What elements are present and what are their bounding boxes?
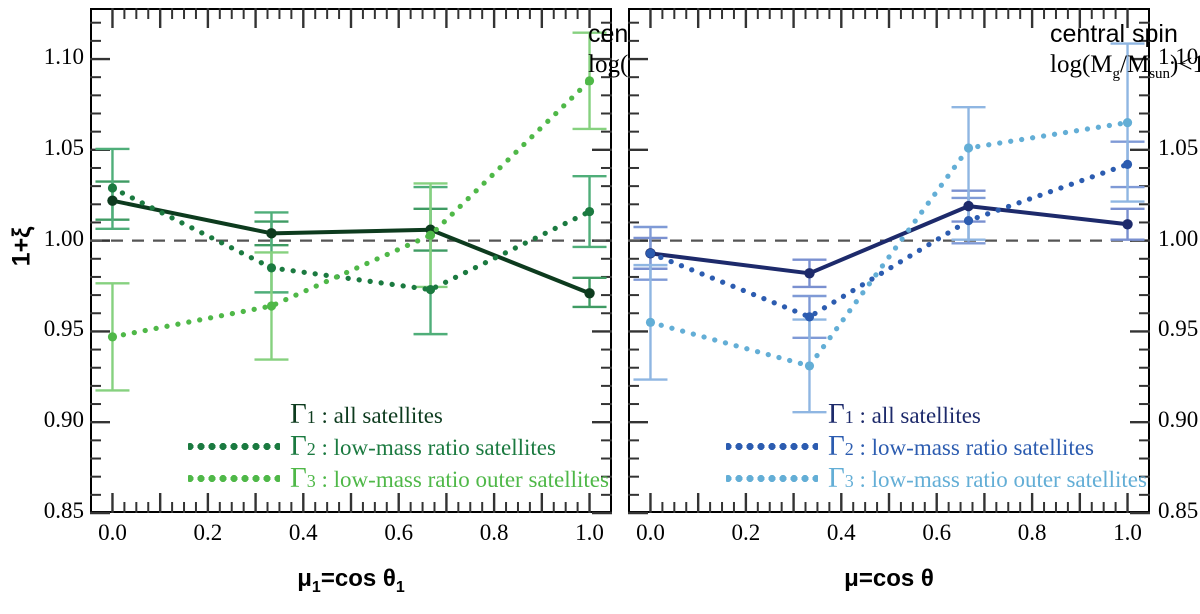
data-point <box>964 216 973 225</box>
data-line <box>650 123 1127 366</box>
x-tick-label: 0.2 <box>178 520 238 546</box>
legend-entry: Γ2 : low-mass ratio satellites <box>188 430 609 462</box>
y-tick-label: 1.00 <box>1158 226 1200 252</box>
data-point <box>426 231 435 240</box>
legend-label: Γ3 : low-mass ratio outer satellites <box>290 462 609 495</box>
errorbar-group <box>633 44 1144 413</box>
figure-root: 1+ξ 1.101.051.000.950.900.85 0.00.20.40.… <box>0 0 1200 614</box>
legend-dotted-line-icon <box>188 473 280 484</box>
annotation-log-post: )<10 <box>1170 51 1200 78</box>
y-tick-label: 0.85 <box>1158 498 1200 524</box>
data-point <box>646 318 655 327</box>
legend-entry: Γ3 : low-mass ratio outer satellites <box>188 462 609 494</box>
data-point <box>804 268 814 278</box>
y-tick-label: 0.85 <box>0 498 84 524</box>
legend-entry: Γ2 : low-mass ratio satellites <box>726 430 1147 462</box>
x-tick-label: 1.0 <box>1098 520 1158 546</box>
y-tick-label: 1.10 <box>0 44 84 70</box>
annotation-log-mid: /M <box>1120 51 1149 78</box>
data-line <box>112 188 589 290</box>
x-axis-title-right: μ=cos θ <box>769 565 1009 597</box>
data-point <box>1123 118 1132 127</box>
xlabel-mu: μ <box>844 565 859 592</box>
data-point <box>426 285 435 294</box>
xlabel-mu: μ <box>297 565 312 592</box>
data-point <box>1122 219 1132 229</box>
data-point <box>1123 160 1132 169</box>
legend-entry: Γ1 : all satellites <box>188 398 609 430</box>
y-tick-label: 0.95 <box>1158 316 1200 342</box>
annotation-log-prefix: log(M <box>1050 51 1113 78</box>
y-tick-label: 0.90 <box>1158 407 1200 433</box>
legend-label: Γ3 : low-mass ratio outer satellites <box>828 462 1147 495</box>
x-tick-label: 1.0 <box>560 520 620 546</box>
data-point <box>585 207 594 216</box>
x-tick-label: 0.4 <box>811 520 871 546</box>
legend-label: Γ1 : all satellites <box>290 398 443 431</box>
legend-label: Γ2 : low-mass ratio satellites <box>828 430 1094 463</box>
x-tick-label: 0.0 <box>620 520 680 546</box>
xlabel-eq: =cos θ <box>859 565 934 592</box>
x-tick-label: 0.2 <box>716 520 776 546</box>
errorbar-group <box>95 182 606 307</box>
x-axis-title-left: μ1=cos θ1 <box>231 565 471 597</box>
data-line <box>112 81 589 337</box>
y-tick-label: 1.05 <box>1158 135 1200 161</box>
legend-label: Γ1 : all satellites <box>828 398 981 431</box>
data-point <box>963 201 973 211</box>
data-point <box>805 361 814 370</box>
data-line <box>112 201 589 294</box>
xlabel-sub-1: 1 <box>312 579 321 596</box>
xlabel-eq: =cos θ <box>321 565 396 592</box>
data-point <box>584 288 594 298</box>
data-point <box>805 312 814 321</box>
legend-solid-line-icon <box>726 412 818 416</box>
legend-dotted-line-icon <box>188 441 280 452</box>
legend-dotted-line-icon <box>726 441 818 452</box>
data-point <box>108 183 117 192</box>
data-point <box>267 263 276 272</box>
data-point <box>266 228 276 238</box>
y-tick-label: 0.90 <box>0 407 84 433</box>
data-point <box>267 301 276 310</box>
data-point <box>646 249 655 258</box>
legend-solid-line-icon <box>188 412 280 416</box>
y-tick-label: 1.05 <box>0 135 84 161</box>
legend-right: Γ1 : all satellitesΓ2 : low-mass ratio s… <box>726 398 1147 494</box>
x-tick-label: 0.0 <box>82 520 142 546</box>
data-point <box>107 195 117 205</box>
legend-entry: Γ3 : low-mass ratio outer satellites <box>726 462 1147 494</box>
y-tick-label: 1.00 <box>0 226 84 252</box>
annotation-sub-g: g <box>1113 66 1121 82</box>
x-tick-label: 0.4 <box>273 520 333 546</box>
data-point <box>108 332 117 341</box>
data-point <box>964 143 973 152</box>
x-tick-label: 0.6 <box>907 520 967 546</box>
legend-left: Γ1 : all satellitesΓ2 : low-mass ratio s… <box>188 398 609 494</box>
x-tick-label: 0.8 <box>1002 520 1062 546</box>
x-tick-label: 0.8 <box>464 520 524 546</box>
xlabel-sub-2: 1 <box>396 579 405 596</box>
legend-label: Γ2 : low-mass ratio satellites <box>290 430 556 463</box>
y-tick-label: 0.95 <box>0 316 84 342</box>
legend-dotted-line-icon <box>726 473 818 484</box>
annotation-sub-sun: sun <box>1149 66 1170 82</box>
legend-entry: Γ1 : all satellites <box>726 398 1147 430</box>
x-tick-label: 0.6 <box>369 520 429 546</box>
